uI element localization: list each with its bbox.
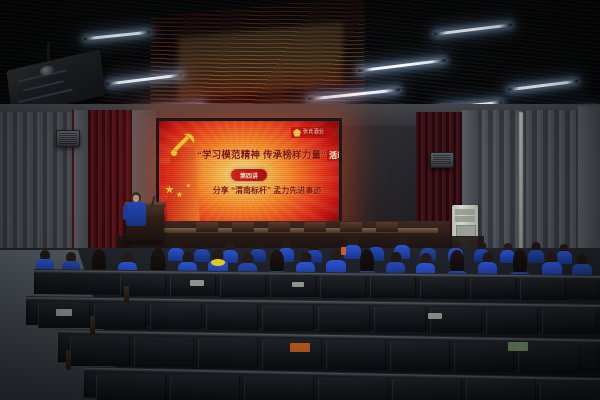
- seat[interactable]: [470, 277, 516, 299]
- seat[interactable]: [206, 304, 258, 330]
- presenter-body: [126, 202, 146, 226]
- seat[interactable]: [374, 306, 426, 332]
- presidium-chair: [304, 222, 326, 232]
- led-screen: 张氏酒业 “学习模范精神 传承榜样力量”活动 第四讲 分享 “渭南标杆” 孟力先…: [156, 118, 342, 227]
- presenter-at-podium: [125, 192, 147, 226]
- seat[interactable]: [318, 377, 388, 400]
- wall-speaker-right: [430, 152, 454, 168]
- seat[interactable]: [430, 307, 482, 333]
- curtain-daylight-gap: [519, 112, 523, 252]
- seat[interactable]: [220, 275, 266, 297]
- seat[interactable]: [542, 308, 596, 334]
- presenter-face: [133, 195, 139, 202]
- seat[interactable]: [320, 276, 366, 298]
- seat[interactable]: [244, 376, 314, 400]
- seat[interactable]: [70, 336, 130, 366]
- green-booklet: [508, 342, 528, 351]
- seat-armrest: [124, 286, 129, 302]
- seat[interactable]: [392, 378, 462, 400]
- phone-icon: [341, 247, 346, 255]
- seat[interactable]: [262, 305, 314, 331]
- paper-sheet: [292, 282, 304, 287]
- wall-pillar-far-right: [578, 106, 600, 266]
- presidium-chair: [376, 222, 398, 232]
- seat[interactable]: [486, 308, 538, 334]
- presidium-chair: [196, 222, 218, 232]
- seat[interactable]: [134, 337, 194, 367]
- seat[interactable]: [150, 303, 202, 329]
- seat[interactable]: [520, 278, 566, 300]
- seat[interactable]: [318, 306, 370, 332]
- seat[interactable]: [326, 340, 386, 370]
- seat[interactable]: [94, 303, 146, 329]
- seat[interactable]: [466, 379, 536, 400]
- seat[interactable]: [96, 374, 166, 400]
- presidium-chair: [232, 222, 254, 232]
- seat-armrest: [66, 350, 71, 370]
- seat[interactable]: [454, 342, 514, 372]
- presenter-arm: [123, 205, 128, 220]
- paper-sheet: [56, 309, 72, 316]
- seat[interactable]: [390, 341, 450, 371]
- wall-speaker-left: [56, 130, 80, 147]
- seat[interactable]: [198, 338, 258, 368]
- paper-sheet: [190, 280, 204, 286]
- paper-sheet: [428, 313, 442, 319]
- gray-curtain-right: [474, 110, 582, 262]
- presidium-chair: [340, 222, 362, 232]
- led-screen-surface: 张氏酒业 “学习模范精神 传承榜样力量”活动 第四讲 分享 “渭南标杆” 孟力先…: [159, 121, 339, 224]
- seat[interactable]: [170, 375, 240, 400]
- seat-armrest: [90, 316, 95, 334]
- auditorium-photo: 张氏酒业 “学习模范精神 传承榜样力量”活动 第四讲 分享 “渭南标杆” 孟力先…: [0, 0, 600, 400]
- seat[interactable]: [540, 380, 600, 400]
- orange-booklet: [290, 343, 310, 352]
- yellow-collar: [211, 259, 225, 266]
- presidium-chair: [268, 222, 290, 232]
- seat[interactable]: [370, 276, 416, 298]
- seat[interactable]: [420, 277, 466, 299]
- led-pixel-scanlines: [159, 121, 339, 224]
